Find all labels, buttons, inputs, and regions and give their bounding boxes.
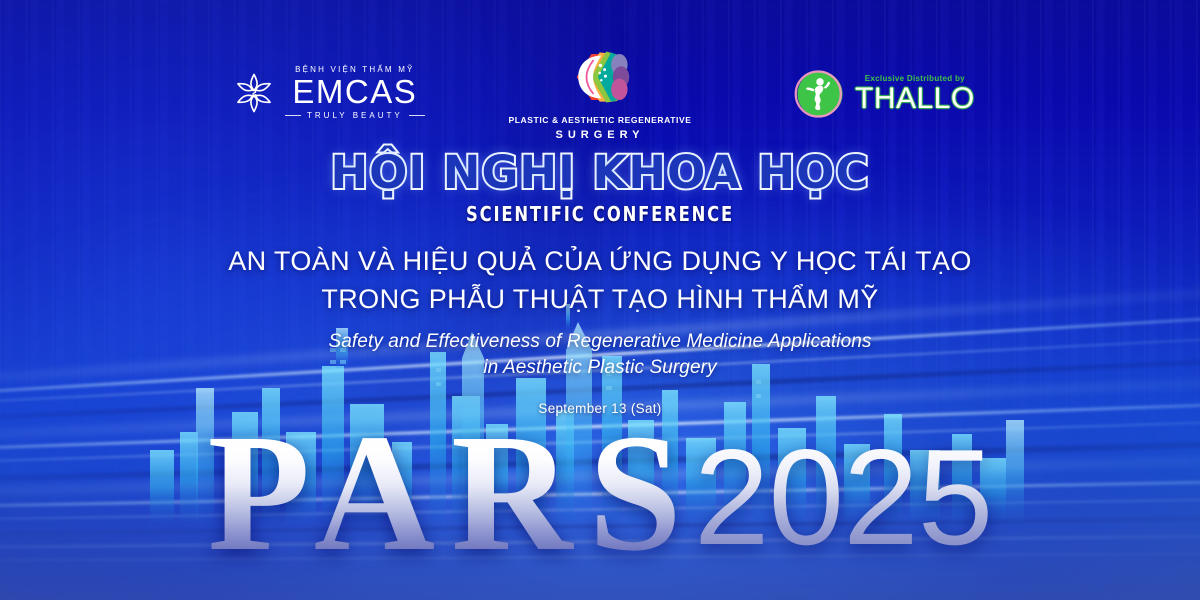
logo-thallo[interactable]: Exclusive Distributed by THALLO <box>794 68 975 120</box>
green-woman-circle-icon <box>794 68 846 120</box>
headline-vietnamese: HỘI NGHỊ KHOA HỌC <box>0 150 1200 195</box>
pars-2025-wordmark: PARS 2025 <box>0 423 1200 564</box>
pars-line1: PLASTIC & AESTHETIC REGENERATIVE <box>508 115 691 125</box>
topic-english: Safety and Effectiveness of Regenerative… <box>0 329 1200 381</box>
lotus-flower-icon <box>232 71 276 115</box>
headline-block: HỘI NGHỊ KHOA HỌC SCIENTIFIC CONFERENCE … <box>0 150 1200 416</box>
headline-english: SCIENTIFIC CONFERENCE <box>108 204 1092 224</box>
topic-en-line-2: in Aesthetic Plastic Surgery <box>0 355 1200 381</box>
thallo-name: THALLO <box>855 84 975 114</box>
topic-vi-line-2: TRONG PHẪU THUẬT TẠO HÌNH THẨM MỸ <box>0 280 1200 318</box>
wordmark-year: 2025 <box>694 436 993 558</box>
conference-banner: BỆNH VIỆN THẨM MỸ EMCAS TRULY BEAUTY <box>0 0 1200 600</box>
wordmark-name: PARS <box>208 423 702 564</box>
topic-vi-line-1: AN TOÀN VÀ HIỆU QUẢ CỦA ỨNG DỤNG Y HỌC T… <box>0 242 1200 280</box>
emcas-name: EMCAS <box>292 76 417 108</box>
emcas-wordmark: BỆNH VIỆN THẨM MỸ EMCAS TRULY BEAUTY <box>285 66 425 120</box>
logo-emcas[interactable]: BỆNH VIỆN THẨM MỸ EMCAS TRULY BEAUTY <box>232 66 425 120</box>
emcas-tagline: TRULY BEAUTY <box>285 111 425 120</box>
thallo-wordmark: Exclusive Distributed by THALLO <box>855 75 975 114</box>
rainbow-lotus-icon <box>563 44 637 110</box>
pars-line2: SURGERY <box>555 129 644 141</box>
logo-pars-surgery[interactable]: PLASTIC & AESTHETIC REGENERATIVE SURGERY <box>508 44 691 141</box>
topic-en-line-1: Safety and Effectiveness of Regenerative… <box>0 329 1200 355</box>
topic-vietnamese: AN TOÀN VÀ HIỆU QUẢ CỦA ỨNG DỤNG Y HỌC T… <box>0 242 1200 319</box>
